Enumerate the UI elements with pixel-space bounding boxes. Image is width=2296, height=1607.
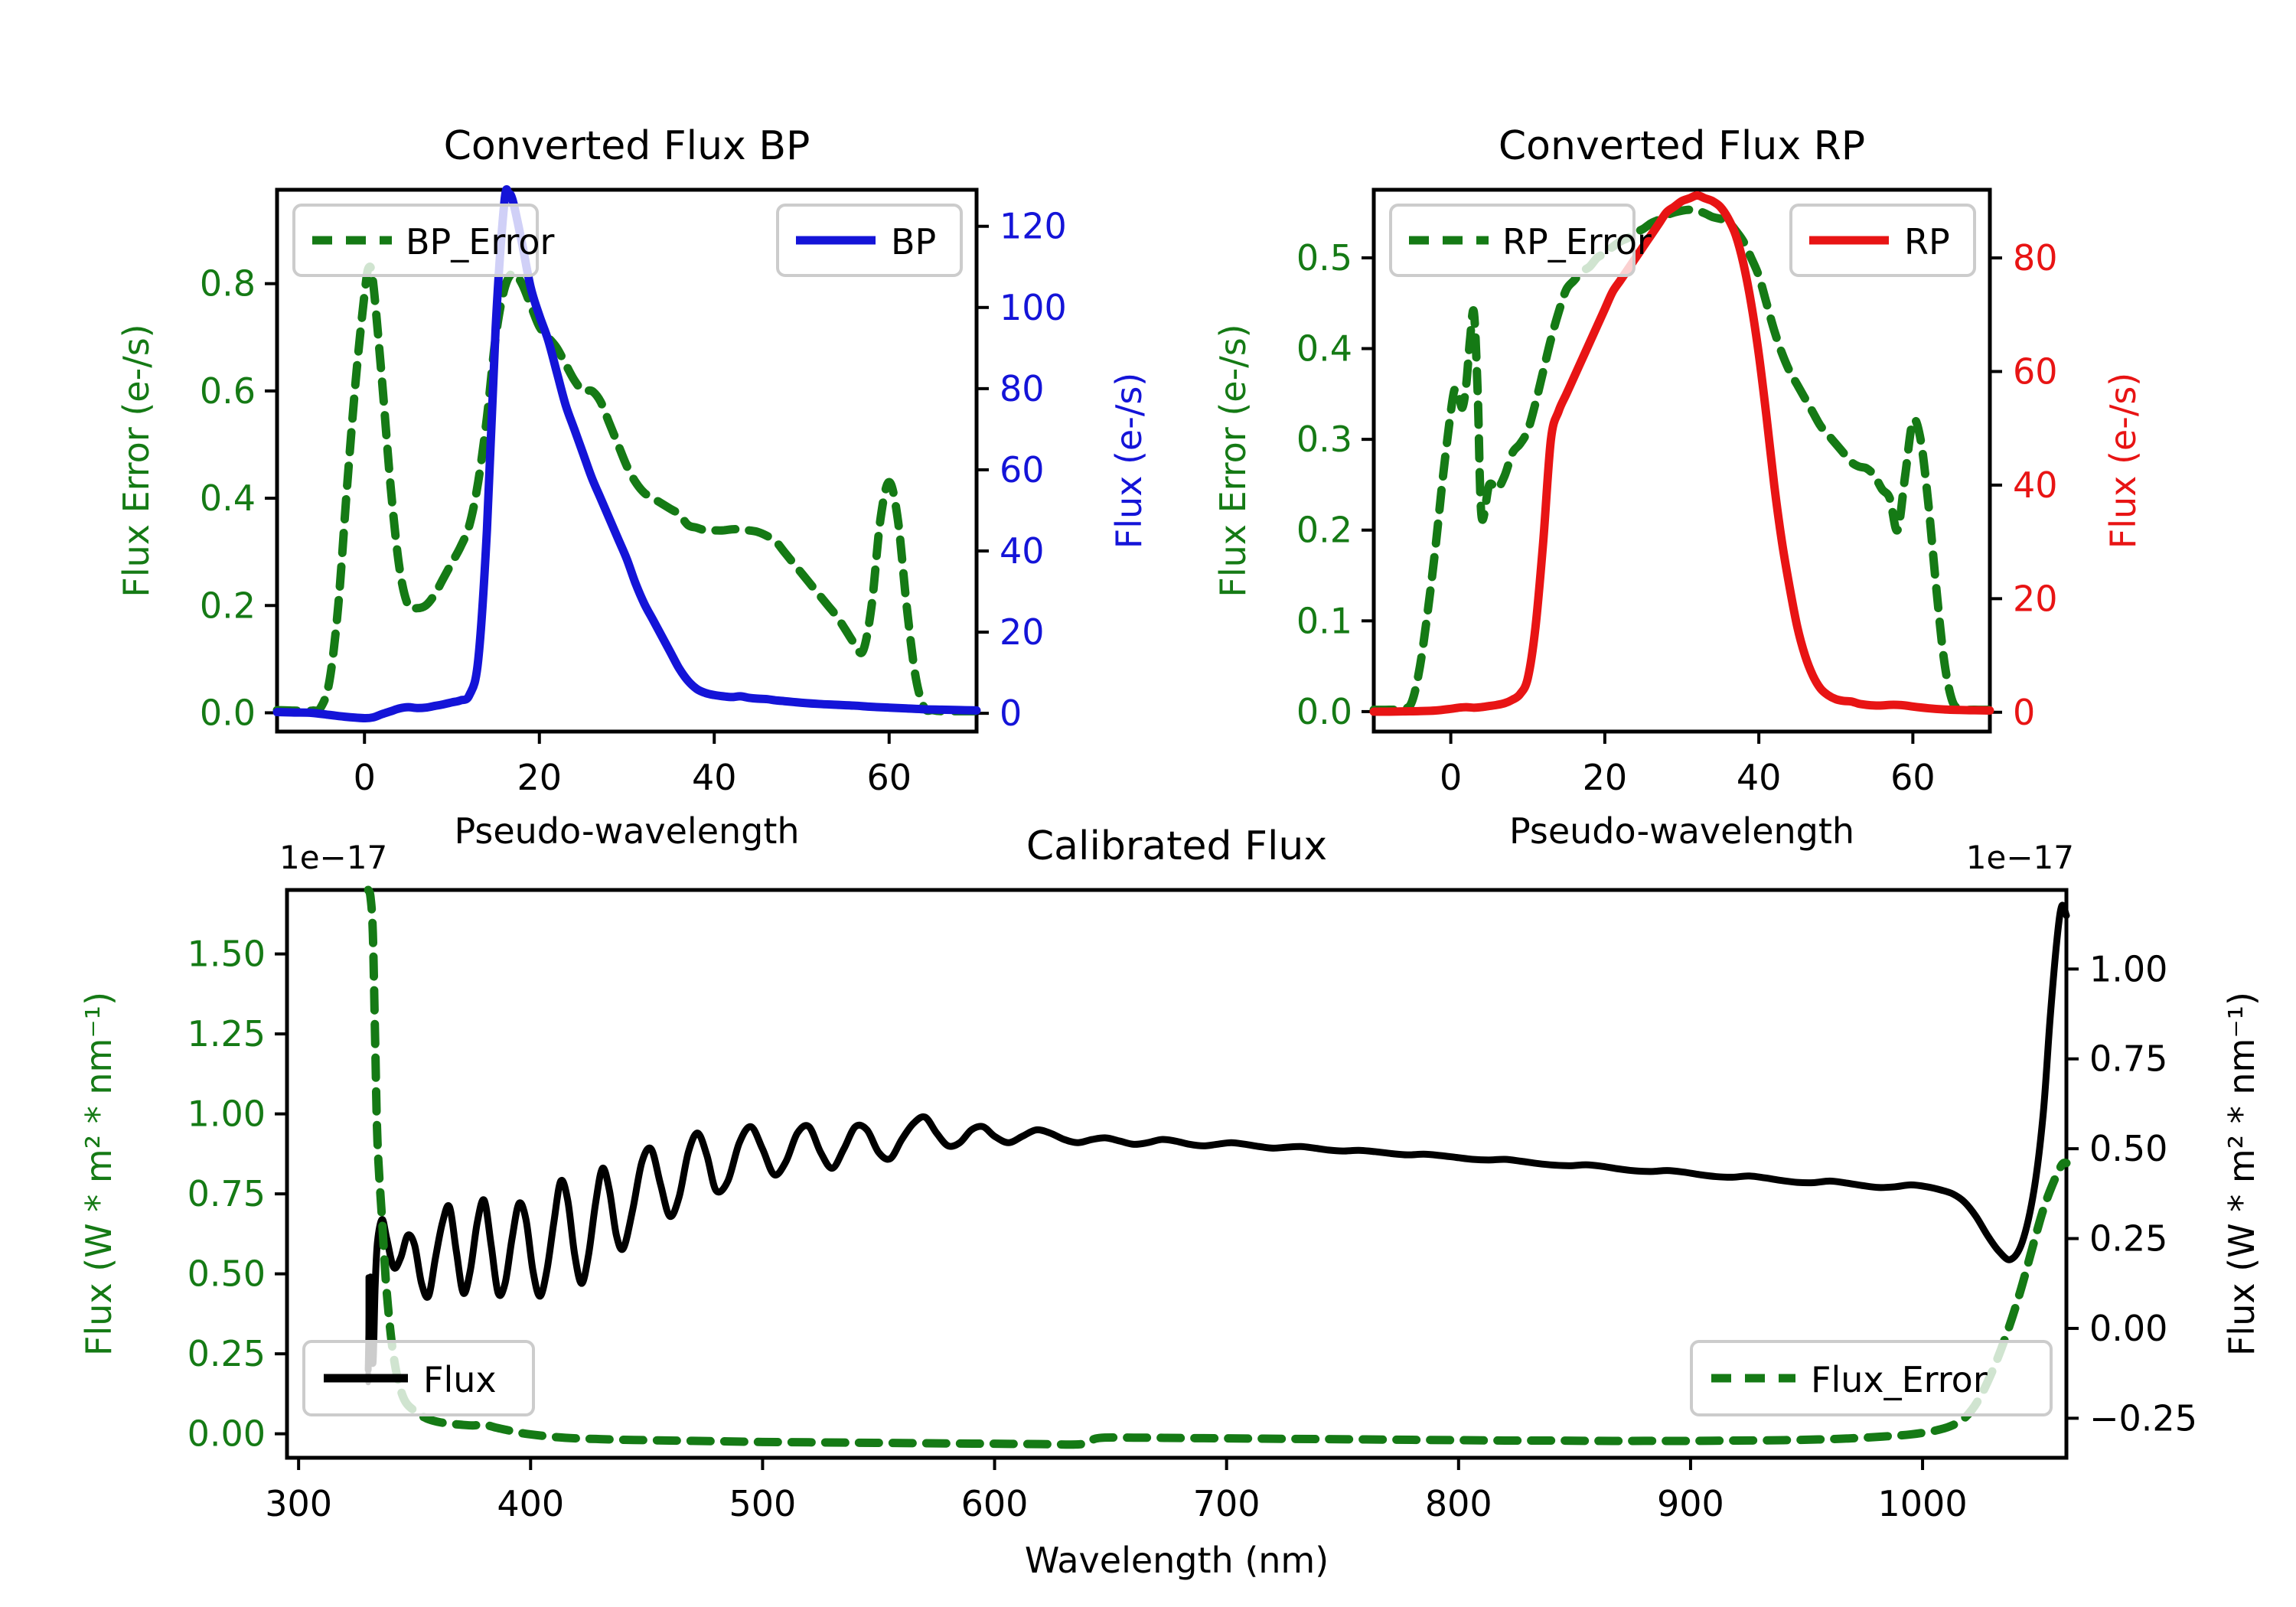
rp-ytick-left-label: 0.5 bbox=[1296, 237, 1352, 279]
calibrated-ytick-left-label: 1.50 bbox=[188, 934, 266, 975]
calibrated-flux-legend-label: Flux bbox=[423, 1359, 497, 1400]
rp-ytick-right-label: 80 bbox=[2013, 237, 2058, 279]
bp-ytick-left-label: 0.4 bbox=[200, 478, 256, 519]
calibrated-yaxis-right-label: Flux (W * m² * nm⁻¹) bbox=[2221, 992, 2262, 1356]
rp-yaxis-right-label: Flux (e-/s) bbox=[2102, 373, 2144, 549]
calibrated-xtick-label: 400 bbox=[497, 1483, 564, 1524]
calibrated-yaxis-left-label: Flux (W * m² * nm⁻¹) bbox=[78, 992, 119, 1356]
bp-xtick-label: 20 bbox=[517, 757, 562, 798]
rp-ytick-right-label: 40 bbox=[2013, 464, 2058, 506]
bp-ytick-right-label: 100 bbox=[1000, 287, 1067, 328]
matplotlib-figure: Converted Flux BP0204060Pseudo-wavelengt… bbox=[0, 0, 2296, 1607]
calibrated-xtick-label: 300 bbox=[265, 1483, 332, 1524]
bp-xtick-label: 60 bbox=[866, 757, 912, 798]
calibrated-xtick-label: 800 bbox=[1425, 1483, 1492, 1524]
bp-ytick-right-label: 80 bbox=[1000, 368, 1045, 409]
rp-xtick-label: 20 bbox=[1583, 757, 1628, 798]
rp-error-legend-label: RP_Error bbox=[1502, 221, 1652, 262]
calibrated-ytick-left-label: 0.00 bbox=[188, 1413, 266, 1455]
calibrated-ytick-left-label: 0.50 bbox=[188, 1253, 266, 1295]
calibrated-ytick-left-label: 1.00 bbox=[188, 1094, 266, 1135]
rp-ytick-right-label: 60 bbox=[2013, 350, 2058, 392]
bp-ytick-right-label: 60 bbox=[1000, 449, 1045, 491]
rp-ytick-left-label: 0.1 bbox=[1296, 600, 1352, 641]
bp-ytick-left-label: 0.2 bbox=[200, 585, 256, 626]
bp-ytick-right-label: 0 bbox=[1000, 693, 1022, 734]
calibrated-ytick-right-label: 0.25 bbox=[2089, 1218, 2167, 1260]
bp-ytick-right-label: 40 bbox=[1000, 530, 1045, 572]
rp-error-curve bbox=[1374, 210, 1990, 710]
rp-xtick-label: 0 bbox=[1440, 757, 1462, 798]
calibrated-ytick-left-label: 0.75 bbox=[188, 1173, 266, 1214]
figure-canvas: Converted Flux BP0204060Pseudo-wavelengt… bbox=[0, 0, 2296, 1607]
calibrated-xaxis-label: Wavelength (nm) bbox=[1025, 1540, 1329, 1581]
rp-ytick-right-label: 0 bbox=[2013, 692, 2035, 733]
rp-ytick-left-label: 0.4 bbox=[1296, 328, 1352, 370]
rp-panel-title: Converted Flux RP bbox=[1499, 123, 1865, 169]
bp-legend-label: BP bbox=[891, 221, 936, 262]
calibrated-ytick-left-label: 1.25 bbox=[188, 1013, 266, 1054]
bp-ytick-right-label: 20 bbox=[1000, 611, 1045, 653]
bp-xtick-label: 40 bbox=[692, 757, 737, 798]
rp-ytick-left-label: 0.2 bbox=[1296, 510, 1352, 551]
rp-ytick-right-label: 20 bbox=[2013, 578, 2058, 619]
calibrated-ytick-right-label: 0.50 bbox=[2089, 1128, 2167, 1169]
rp-ytick-left-label: 0.3 bbox=[1296, 419, 1352, 460]
bp-yaxis-left-label: Flux Error (e-/s) bbox=[116, 324, 157, 597]
calibrated-ytick-right-label: 0.00 bbox=[2089, 1308, 2167, 1349]
calibrated-ytick-right-label: −0.25 bbox=[2089, 1397, 2197, 1439]
rp-legend-label: RP bbox=[1904, 221, 1950, 262]
rp-xtick-label: 60 bbox=[1890, 757, 1936, 798]
calibrated-xtick-label: 1000 bbox=[1878, 1483, 1968, 1524]
calibrated-error-legend-label: Flux_Error bbox=[1811, 1359, 1988, 1400]
bp-panel-title: Converted Flux BP bbox=[444, 123, 810, 169]
calibrated-ytick-right-label: 1.00 bbox=[2089, 948, 2167, 989]
bp-xtick-label: 0 bbox=[354, 757, 376, 798]
calibrated-left-exponent: 1e−17 bbox=[279, 839, 387, 876]
calibrated-xtick-label: 700 bbox=[1193, 1483, 1261, 1524]
calibrated-panel-title: Calibrated Flux bbox=[1026, 823, 1327, 869]
calibrated-right-exponent: 1e−17 bbox=[1966, 839, 2074, 876]
rp-xtick-label: 40 bbox=[1737, 757, 1782, 798]
bp-xaxis-label: Pseudo-wavelength bbox=[454, 810, 799, 852]
calibrated-xtick-label: 600 bbox=[961, 1483, 1029, 1524]
calibrated-xtick-label: 500 bbox=[729, 1483, 797, 1524]
calibrated-flux-curve bbox=[368, 905, 2066, 1370]
bp-yaxis-right-label: Flux (e-/s) bbox=[1108, 373, 1150, 549]
rp-ytick-left-label: 0.0 bbox=[1296, 691, 1352, 732]
bp-error-legend-label: BP_Error bbox=[406, 221, 555, 262]
calibrated-ytick-left-label: 0.25 bbox=[188, 1333, 266, 1374]
bp-ytick-left-label: 0.8 bbox=[200, 263, 256, 305]
rp-xaxis-label: Pseudo-wavelength bbox=[1509, 810, 1854, 852]
bp-ytick-left-label: 0.6 bbox=[200, 370, 256, 412]
calibrated-xtick-label: 900 bbox=[1657, 1483, 1724, 1524]
rp-yaxis-left-label: Flux Error (e-/s) bbox=[1212, 324, 1254, 597]
calibrated-ytick-right-label: 0.75 bbox=[2089, 1038, 2167, 1080]
bp-ytick-right-label: 120 bbox=[1000, 206, 1067, 247]
bp-error-curve bbox=[277, 266, 977, 711]
bp-ytick-left-label: 0.0 bbox=[200, 692, 256, 733]
